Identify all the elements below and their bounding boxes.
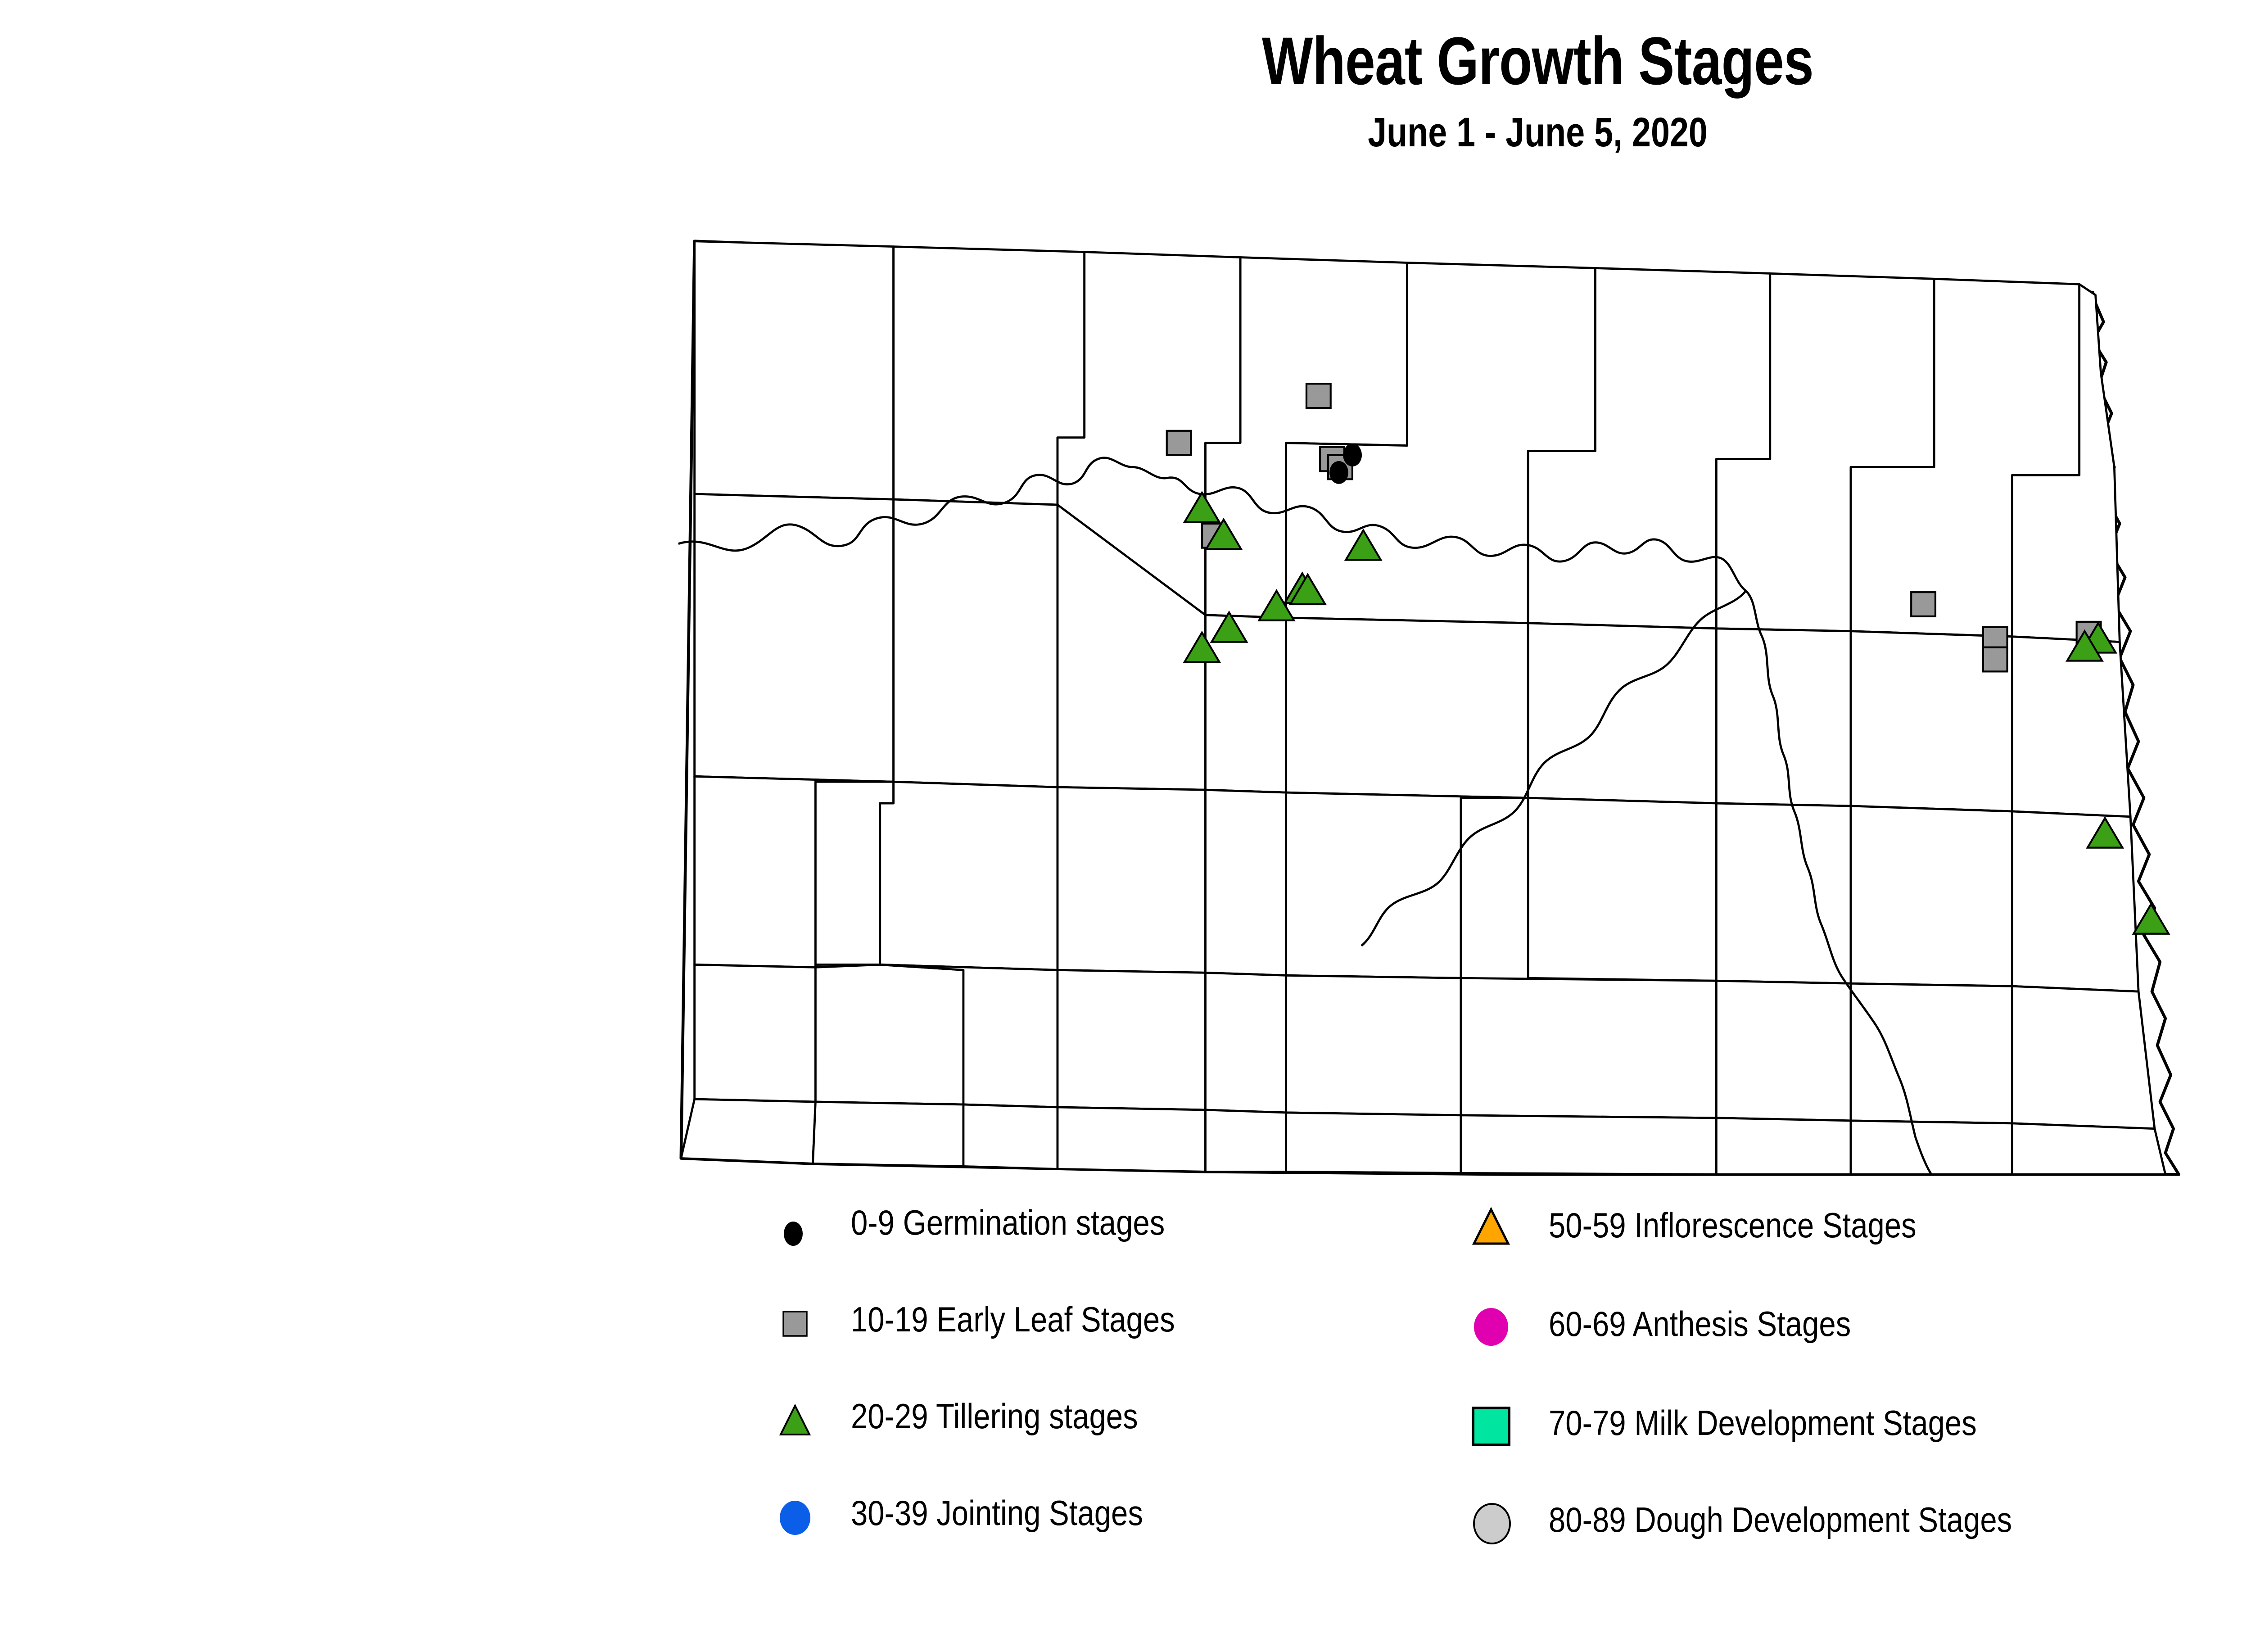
page-title: Wheat Growth Stages [307,27,2251,95]
legend-item-tillering[interactable]: 20-29 Tillering stages [765,1382,1463,1472]
legend-item-inflorescence[interactable]: 50-59 Inflorescence Stages [1463,1191,2251,1281]
legend-label-inflorescence: 50-59 Inflorescence Stages [1549,1205,1917,1246]
map-marker-10-19 [1167,431,1191,455]
legend-label-jointing: 30-39 Jointing Stages [851,1493,1143,1534]
map-marker-10-19 [1983,647,2007,672]
legend-label-early-leaf: 10-19 Early Leaf Stages [851,1299,1175,1340]
map-marker-10-19 [1911,592,1935,616]
legend-item-dough-development[interactable]: 80-89 Dough Development Stages [1463,1486,2251,1576]
germination-marker-icon [765,1189,842,1265]
legend-label-tillering: 20-29 Tillering stages [851,1396,1138,1437]
map-marker-10-19 [1306,384,1331,408]
county-boundaries [681,241,2179,1175]
inflorescence-marker-icon [1463,1191,1540,1268]
map-page: Wheat Growth Stages June 1 - June 5, 202… [0,0,2251,1652]
milk-development-marker-icon [1463,1389,1540,1466]
title-block: Wheat Growth Stages June 1 - June 5, 202… [0,27,2251,153]
legend-label-germination: 0-9 Germination stages [851,1202,1165,1243]
north-dakota-map [653,212,2251,1207]
legend-label-milk-development: 70-79 Milk Development Stages [1549,1403,1977,1444]
legend-item-early-leaf[interactable]: 10-19 Early Leaf Stages [765,1285,1463,1376]
legend-item-germination[interactable]: 0-9 Germination stages [765,1189,1463,1279]
legend-item-milk-development[interactable]: 70-79 Milk Development Stages [1463,1389,2251,1479]
legend-label-anthesis: 60-69 Anthesis Stages [1549,1303,1851,1344]
dough-development-marker-icon [1463,1486,1540,1562]
early-leaf-marker-icon [765,1285,842,1362]
tillering-marker-icon [765,1382,842,1459]
map-svg [653,212,2251,1207]
legend: 0-9 Germination stages 10-19 Early Leaf … [765,1189,2251,1612]
legend-item-anthesis[interactable]: 60-69 Anthesis Stages [1463,1290,2251,1380]
jointing-marker-icon [765,1479,842,1556]
map-marker-0-9 [1329,461,1348,484]
legend-item-jointing[interactable]: 30-39 Jointing Stages [765,1479,1463,1569]
anthesis-marker-icon [1463,1290,1540,1367]
map-marker-0-9 [1343,444,1362,466]
page-subtitle: June 1 - June 5, 2020 [277,112,2251,153]
legend-label-dough-development: 80-89 Dough Development Stages [1549,1499,2012,1540]
